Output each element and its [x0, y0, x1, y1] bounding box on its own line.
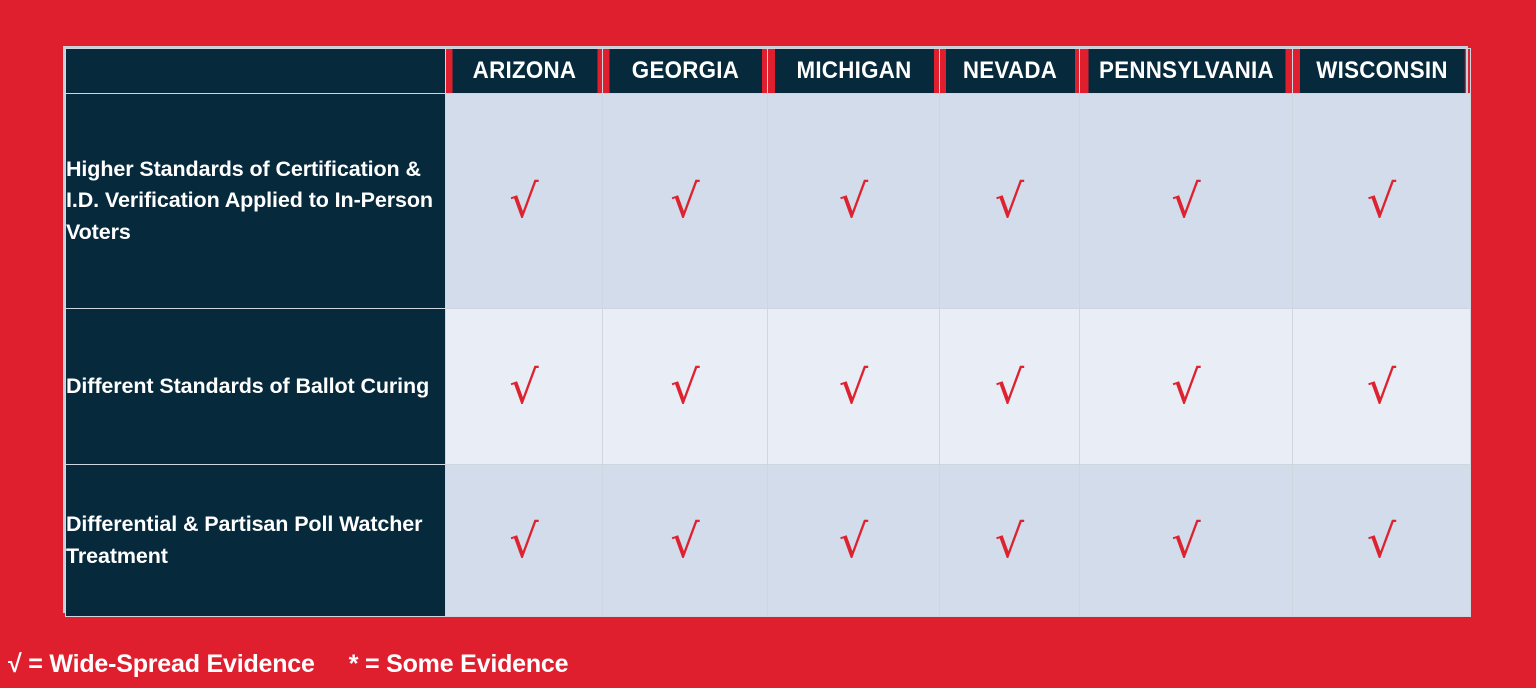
check-icon: √ [995, 364, 1024, 410]
row-label-certification-id-verification: Higher Standards of Certification & I.D.… [66, 94, 446, 309]
table-header: ARIZONA GEORGIA MICHIGAN NEVADA PENNSYLV… [66, 49, 1471, 94]
column-header-georgia: GEORGIA [608, 49, 761, 94]
cell-row0-georgia: √ [603, 94, 768, 309]
cell-row1-michigan: √ [768, 309, 940, 465]
cell-row0-arizona: √ [446, 94, 603, 309]
header-row: ARIZONA GEORGIA MICHIGAN NEVADA PENNSYLV… [66, 49, 1471, 94]
legend-entry-some-evidence: * = Some Evidence [349, 650, 569, 679]
table-row: Different Standards of Ballot Curing √ √… [66, 309, 1471, 465]
check-icon: √ [839, 518, 868, 564]
check-icon: √ [839, 364, 868, 410]
column-header-michigan: MICHIGAN [774, 49, 934, 94]
check-icon: √ [995, 178, 1024, 224]
header-corner-cell [66, 49, 446, 94]
cell-row2-arizona: √ [446, 465, 603, 617]
cell-row2-pennsylvania: √ [1080, 465, 1293, 617]
cell-row1-georgia: √ [603, 309, 768, 465]
check-icon: √ [509, 518, 538, 564]
cell-row2-nevada: √ [940, 465, 1080, 617]
column-header-arizona: ARIZONA [451, 49, 597, 94]
check-icon: √ [995, 518, 1024, 564]
legend: √ = Wide-Spread Evidence * = Some Eviden… [8, 650, 568, 679]
table-row: Higher Standards of Certification & I.D.… [66, 94, 1471, 309]
check-icon: √ [839, 178, 868, 224]
check-icon: √ [1171, 178, 1200, 224]
check-icon: √ [670, 518, 699, 564]
check-icon: √ [1171, 518, 1200, 564]
check-icon: √ [670, 364, 699, 410]
column-header-wisconsin: WISCONSIN [1299, 49, 1465, 94]
cell-row0-pennsylvania: √ [1080, 94, 1293, 309]
evidence-matrix-table: ARIZONA GEORGIA MICHIGAN NEVADA PENNSYLV… [63, 46, 1468, 613]
cell-row2-michigan: √ [768, 465, 940, 617]
check-icon: √ [1171, 364, 1200, 410]
check-icon: √ [1367, 518, 1396, 564]
check-icon: √ [670, 178, 699, 224]
column-header-nevada: NEVADA [944, 49, 1074, 94]
cell-row0-wisconsin: √ [1293, 94, 1471, 309]
cell-row2-wisconsin: √ [1293, 465, 1471, 617]
check-icon: √ [509, 364, 538, 410]
matrix: ARIZONA GEORGIA MICHIGAN NEVADA PENNSYLV… [65, 48, 1471, 617]
check-icon: √ [1367, 364, 1396, 410]
column-header-pennsylvania: PENNSYLVANIA [1087, 49, 1285, 94]
table-body: Higher Standards of Certification & I.D.… [66, 94, 1471, 617]
check-icon: √ [1367, 178, 1396, 224]
cell-row1-nevada: √ [940, 309, 1080, 465]
table-row: Differential & Partisan Poll Watcher Tre… [66, 465, 1471, 617]
cell-row1-arizona: √ [446, 309, 603, 465]
cell-row1-pennsylvania: √ [1080, 309, 1293, 465]
cell-row0-michigan: √ [768, 94, 940, 309]
row-label-ballot-curing: Different Standards of Ballot Curing [66, 309, 446, 465]
legend-entry-wide-spread-evidence: √ = Wide-Spread Evidence [8, 650, 315, 679]
row-label-poll-watcher-treatment: Differential & Partisan Poll Watcher Tre… [66, 465, 446, 617]
cell-row2-georgia: √ [603, 465, 768, 617]
cell-row0-nevada: √ [940, 94, 1080, 309]
check-icon: √ [509, 178, 538, 224]
cell-row1-wisconsin: √ [1293, 309, 1471, 465]
